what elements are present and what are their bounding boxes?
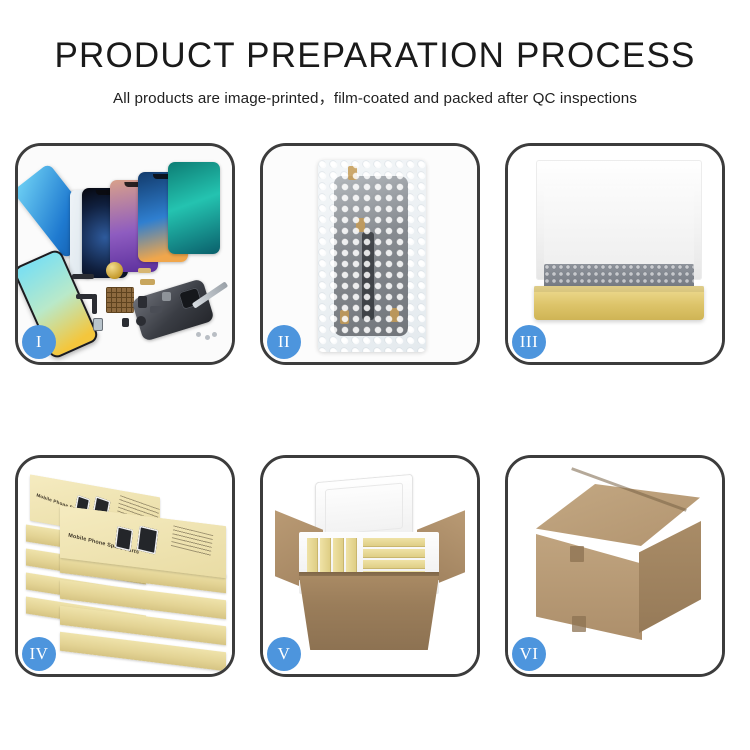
connector-icon: [140, 279, 155, 285]
phone-thumb-icon: [115, 526, 134, 551]
component-icon: [162, 292, 171, 301]
process-step-panel-3[interactable]: III: [505, 143, 725, 365]
flex-cable-icon: [76, 294, 94, 299]
carton-body-icon: [299, 576, 439, 650]
flex-cable-icon: [72, 274, 94, 279]
box-stack-icon: Mobile Phone Spare Parts Mobile Phone Sp…: [26, 476, 230, 666]
screws-icon: [196, 332, 218, 342]
bubble-texture: [318, 160, 426, 352]
process-step-panel-6[interactable]: VI: [505, 455, 725, 677]
carton-tape-icon: [572, 616, 586, 632]
box-lid-icon: [536, 160, 702, 280]
step-badge-1: I: [22, 325, 56, 359]
process-step-grid: I II III: [15, 143, 735, 677]
page-title: PRODUCT PREPARATION PROCESS: [0, 38, 750, 75]
kraft-box-tray-icon: [534, 286, 704, 320]
camera-module-icon: [136, 316, 146, 326]
speaker-coil-icon: [106, 262, 123, 279]
component-icon: [150, 306, 162, 313]
bubble-wrap-bag-icon: [318, 160, 426, 352]
connector-icon: [138, 268, 151, 273]
step-badge-3: III: [512, 325, 546, 359]
page-header: PRODUCT PREPARATION PROCESS All products…: [0, 0, 750, 108]
process-step-panel-2[interactable]: II: [260, 143, 480, 365]
step-badge-6: VI: [512, 637, 546, 671]
carton-front-face: [536, 534, 642, 640]
phone-thumb-icon: [137, 526, 159, 555]
page-subtitle: All products are image-printed，film-coat…: [0, 86, 750, 108]
step-badge-2: II: [267, 325, 301, 359]
process-step-panel-1[interactable]: I: [15, 143, 235, 365]
chip-grid-icon: [106, 287, 134, 313]
carton-tape-icon: [570, 546, 584, 562]
step-badge-5: V: [267, 637, 301, 671]
process-step-panel-5[interactable]: V: [260, 455, 480, 677]
sim-tray-icon: [93, 318, 103, 331]
process-step-panel-4[interactable]: Mobile Phone Spare Parts Mobile Phone Sp…: [15, 455, 235, 677]
component-icon: [138, 296, 147, 308]
component-icon: [122, 318, 129, 327]
step-badge-4: IV: [22, 637, 56, 671]
phone-teal-icon: [168, 162, 220, 254]
